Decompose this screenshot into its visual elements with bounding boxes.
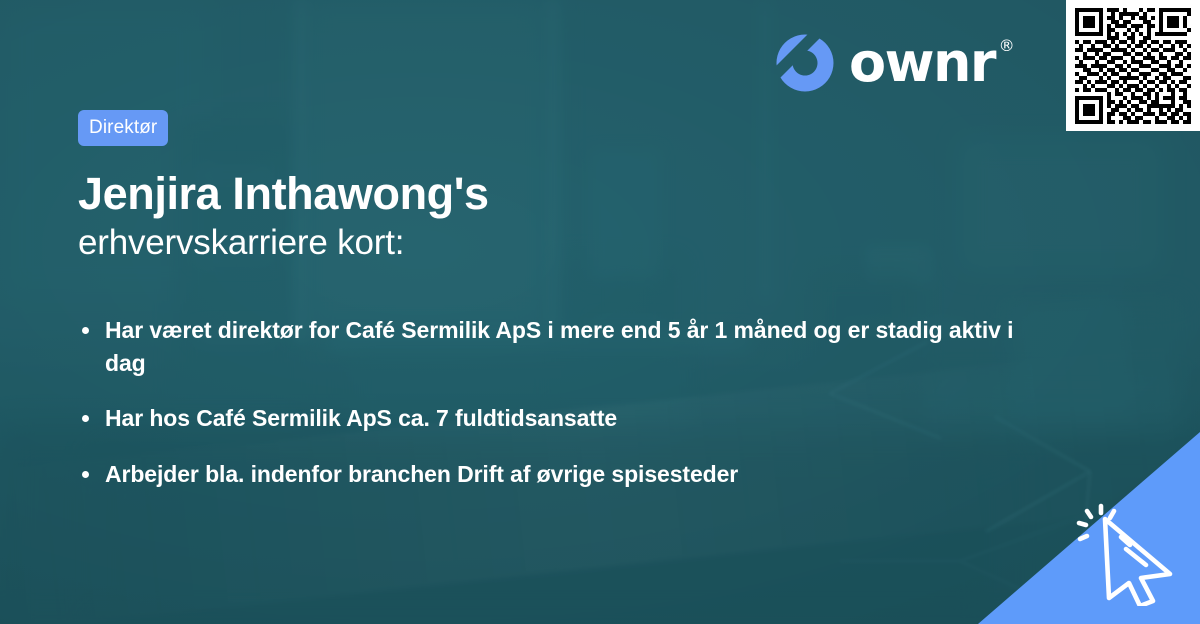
career-fact-item: Har været direktør for Café Sermilik ApS… <box>78 314 1028 379</box>
ownr-circle-swoosh-icon <box>775 33 835 93</box>
ownr-logo[interactable]: ownr ® <box>775 32 1013 94</box>
career-fact-item: Har hos Café Sermilik ApS ca. 7 fuldtids… <box>78 402 1028 435</box>
page-subtitle: erhvervskarriere kort: <box>78 224 978 263</box>
ownr-wordmark: ownr ® <box>849 36 1013 90</box>
headline-block: Direktør Jenjira Inthawong's erhvervskar… <box>78 110 978 262</box>
role-badge: Direktør <box>78 110 168 146</box>
career-facts-list: Har været direktør for Café Sermilik ApS… <box>78 314 1028 491</box>
qr-code-image <box>1075 8 1191 124</box>
page-title: Jenjira Inthawong's <box>78 170 978 218</box>
ownr-wordmark-text: ownr <box>849 31 995 94</box>
qr-code[interactable] <box>1066 0 1200 131</box>
career-fact-item: Arbejder bla. indenfor branchen Drift af… <box>78 458 1028 491</box>
registered-trademark-icon: ® <box>999 38 1014 54</box>
ownr-career-card: ownr ® Direktør Jenjira Inthawong's erhv… <box>0 0 1200 624</box>
background-office-photo <box>0 0 1200 624</box>
